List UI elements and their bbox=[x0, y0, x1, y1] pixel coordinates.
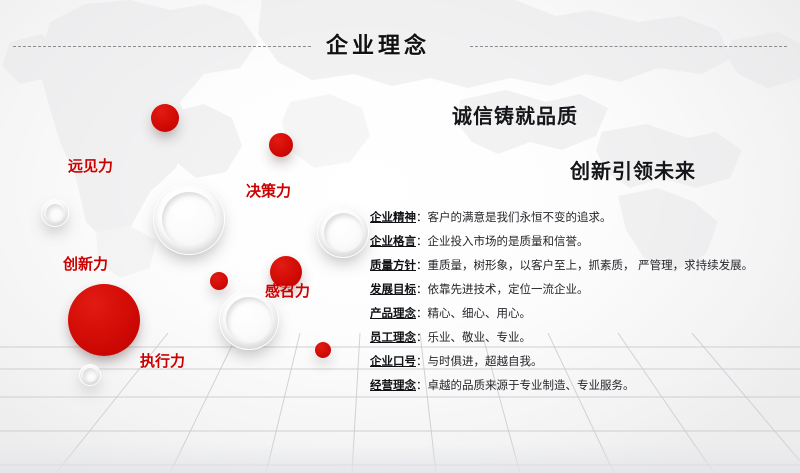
circle-white-large-center bbox=[153, 183, 225, 255]
principle-key: 经营理念 bbox=[370, 378, 416, 392]
principle-separator: ： bbox=[416, 330, 428, 344]
circle-white-bottom-left bbox=[79, 364, 101, 386]
capability-label-innovation: 创新力 bbox=[63, 253, 108, 274]
principles-list: 企业精神：客户的满意是我们永恒不变的追求。企业格言：企业投入市场的是质量和信誉。… bbox=[370, 205, 795, 397]
principle-value: 精心、细心、用心。 bbox=[428, 306, 532, 320]
principle-key: 发展目标 bbox=[370, 282, 416, 296]
principle-value: 依靠先进技术，定位一流企业。 bbox=[428, 282, 589, 296]
principle-separator: ： bbox=[416, 378, 428, 392]
principle-key: 企业口号 bbox=[370, 354, 416, 368]
principle-value: 与时俱进，超越自我。 bbox=[428, 354, 543, 368]
circle-white-small-left bbox=[41, 199, 69, 227]
circle-red-dot-upper-right bbox=[269, 133, 293, 157]
principle-value: 企业投入市场的是质量和信誉。 bbox=[428, 234, 589, 248]
principle-value: 卓越的品质来源于专业制造、专业服务。 bbox=[428, 378, 635, 392]
principle-separator: ： bbox=[416, 234, 428, 248]
principle-key: 质量方针 bbox=[370, 258, 416, 272]
principle-key: 产品理念 bbox=[370, 306, 416, 320]
capability-label-decision: 决策力 bbox=[246, 180, 291, 201]
circle-red-dot-top bbox=[151, 104, 179, 132]
capability-label-execution: 执行力 bbox=[140, 350, 185, 371]
principle-separator: ： bbox=[416, 306, 428, 320]
header-dashed-line-left bbox=[13, 46, 311, 47]
circle-red-dot-mid bbox=[210, 272, 228, 290]
principle-row: 经营理念：卓越的品质来源于专业制造、专业服务。 bbox=[370, 373, 795, 397]
principle-value: 乐业、敬业、专业。 bbox=[428, 330, 532, 344]
header-dashed-line-right bbox=[470, 46, 787, 47]
principle-separator: ： bbox=[416, 258, 428, 272]
principle-value: 客户的满意是我们永恒不变的追求。 bbox=[428, 210, 612, 224]
principle-separator: ： bbox=[416, 210, 428, 224]
capability-label-vision: 远见力 bbox=[68, 155, 113, 176]
principle-row: 发展目标：依靠先进技术，定位一流企业。 bbox=[370, 277, 795, 301]
circle-white-right-upper bbox=[317, 206, 369, 258]
principle-row: 企业口号：与时俱进，超越自我。 bbox=[370, 349, 795, 373]
principle-separator: ： bbox=[416, 354, 428, 368]
principle-separator: ： bbox=[416, 282, 428, 296]
bottom-vignette bbox=[0, 443, 800, 473]
principle-key: 员工理念 bbox=[370, 330, 416, 344]
headline-primary: 诚信铸就品质 bbox=[452, 100, 578, 129]
slide-canvas: 企业理念 诚信铸就品质 创新引领未来 远见力决策力创新力感召力执行力 企业精神：… bbox=[0, 0, 800, 473]
principle-value: 重质量，树形象，以客户至上，抓素质， 严管理，求持续发展。 bbox=[428, 258, 754, 272]
page-title: 企业理念 bbox=[326, 30, 430, 64]
headline-secondary: 创新引领未来 bbox=[570, 155, 696, 184]
capability-label-appeal: 感召力 bbox=[265, 280, 310, 301]
slide-header: 企业理念 bbox=[0, 30, 800, 64]
principle-row: 企业精神：客户的满意是我们永恒不变的追求。 bbox=[370, 205, 795, 229]
circle-red-big bbox=[68, 284, 140, 356]
principle-row: 质量方针：重质量，树形象，以客户至上，抓素质， 严管理，求持续发展。 bbox=[370, 253, 795, 277]
principle-key: 企业精神 bbox=[370, 210, 416, 224]
principle-row: 产品理念：精心、细心、用心。 bbox=[370, 301, 795, 325]
principle-row: 员工理念：乐业、敬业、专业。 bbox=[370, 325, 795, 349]
principle-row: 企业格言：企业投入市场的是质量和信誉。 bbox=[370, 229, 795, 253]
principle-key: 企业格言 bbox=[370, 234, 416, 248]
circle-red-dot-bottom bbox=[315, 342, 331, 358]
